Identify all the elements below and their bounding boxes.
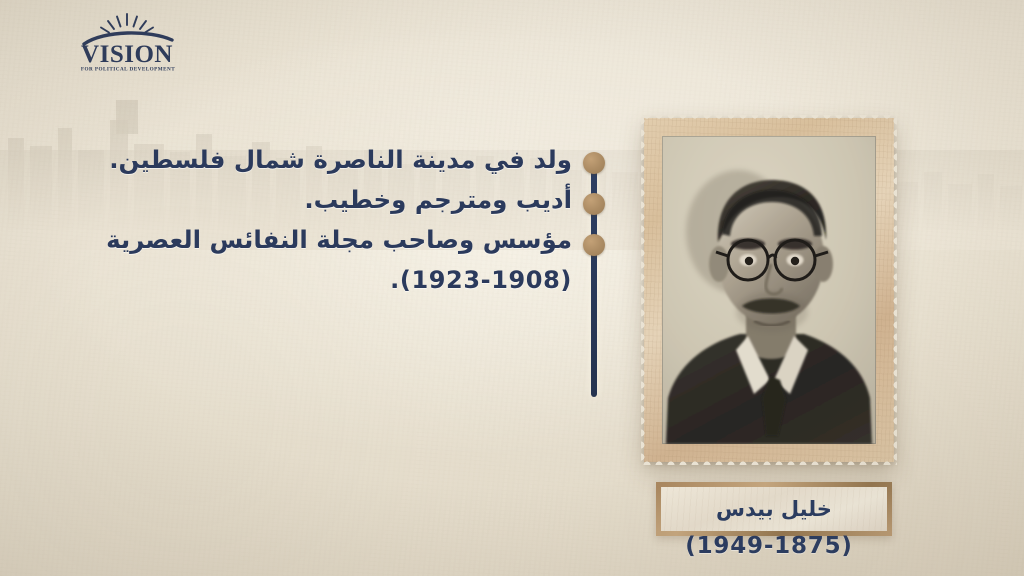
biography-text-block: ولد في مدينة الناصرة شمال فلسطين. أديب و… bbox=[142, 140, 572, 300]
timeline-dot-2 bbox=[583, 193, 605, 215]
timeline-dot-1 bbox=[583, 152, 605, 174]
name-plate: خليل بيدس bbox=[656, 482, 892, 536]
sunrise-rays-icon bbox=[101, 14, 153, 33]
logo-wordmark: VISION bbox=[81, 41, 173, 68]
person-name: خليل بيدس bbox=[716, 497, 832, 521]
bio-line-1: ولد في مدينة الناصرة شمال فلسطين. bbox=[142, 140, 572, 180]
slide-canvas: VISION FOR POLITICAL DEVELOPMENT ولد في … bbox=[0, 0, 1024, 576]
bio-line-2: أديب ومترجم وخطيب. bbox=[142, 180, 572, 220]
timeline-rail bbox=[590, 152, 598, 397]
timeline-dot-3 bbox=[583, 234, 605, 256]
person-years: (1949-1875) bbox=[656, 533, 882, 559]
portrait-container bbox=[644, 118, 894, 462]
bio-line-4: (1923-1908). bbox=[142, 260, 572, 300]
portrait-photo bbox=[662, 136, 876, 444]
vision-logo[interactable]: VISION FOR POLITICAL DEVELOPMENT bbox=[68, 12, 186, 74]
bio-line-3: مؤسس وصاحب مجلة النفائس العصرية bbox=[142, 220, 572, 260]
logo-tagline: FOR POLITICAL DEVELOPMENT bbox=[81, 67, 175, 73]
